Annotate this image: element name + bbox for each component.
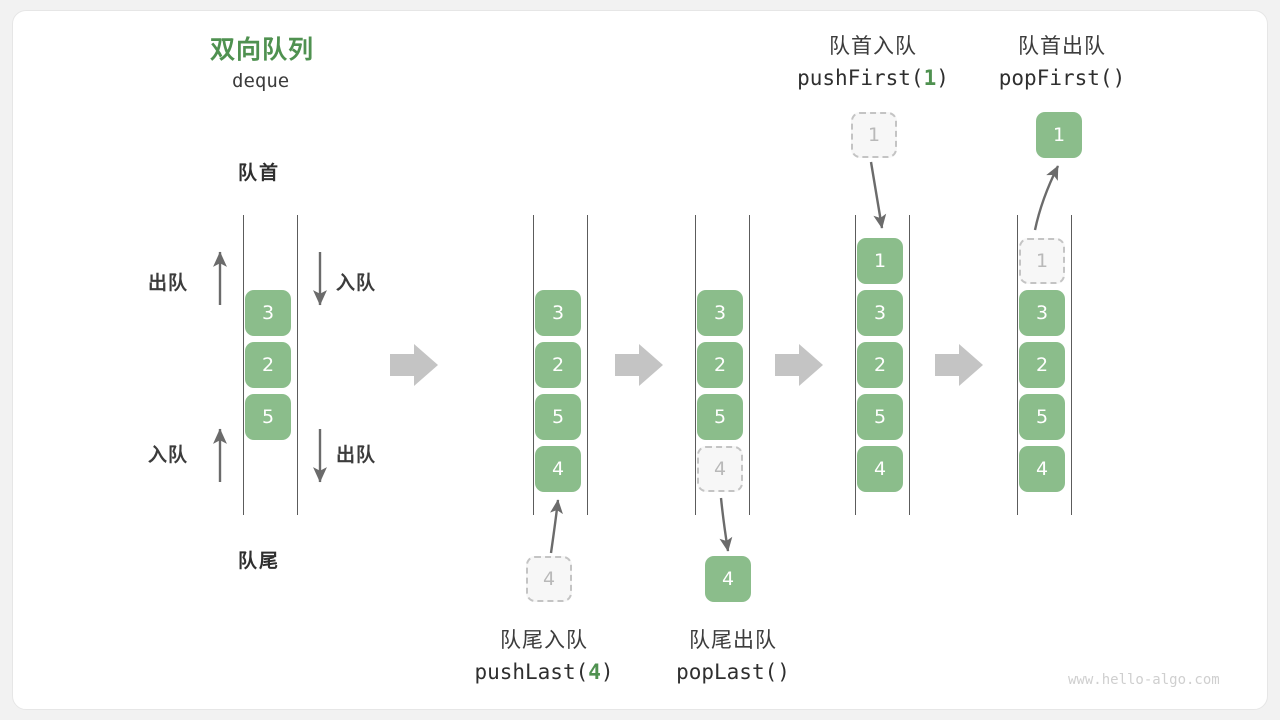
back-label: 队尾 <box>238 546 280 573</box>
push-first-caption: 队首入队 <box>783 30 963 60</box>
push-first-code-value: 1 <box>924 66 937 90</box>
diagram-canvas: 双向队列 deque 队首入队 pushFirst(1) 队首出队 popFir… <box>0 0 1280 720</box>
front-enqueue-label: 入队 <box>336 268 376 295</box>
cell-c3-3: 4 <box>697 446 743 492</box>
front-dequeue-label: 出队 <box>148 268 188 295</box>
pop-last-code-prefix: popLast( <box>676 660 777 684</box>
column-4-rail-left <box>855 215 856 515</box>
pop-last-caption: 队尾出队 <box>643 624 823 654</box>
cell-c5-1: 3 <box>1019 290 1065 336</box>
pop-first-code-prefix: popFirst( <box>999 66 1113 90</box>
push-last-code-value: 4 <box>588 660 601 684</box>
pop-first-operand-box: 1 <box>1036 112 1082 158</box>
cell-c2-3: 4 <box>535 446 581 492</box>
watermark: www.hello-algo.com <box>1068 672 1220 688</box>
column-5-rail-left <box>1017 215 1018 515</box>
front-label: 队首 <box>238 158 280 185</box>
cell-c1-1: 2 <box>245 342 291 388</box>
back-dequeue-label: 出队 <box>336 440 376 467</box>
push-last-code-suffix: ) <box>601 660 614 684</box>
push-first-code-prefix: pushFirst( <box>797 66 923 90</box>
push-last-code-prefix: pushLast( <box>474 660 588 684</box>
cell-c3-1: 2 <box>697 342 743 388</box>
cell-c2-2: 5 <box>535 394 581 440</box>
cell-c1-0: 3 <box>245 290 291 336</box>
page-title: 双向队列 <box>210 30 314 66</box>
cell-c4-2: 2 <box>857 342 903 388</box>
pop-first-code-suffix: ) <box>1113 66 1126 90</box>
pop-last-code-suffix: ) <box>777 660 790 684</box>
push-first-code-suffix: ) <box>936 66 949 90</box>
cell-c3-2: 5 <box>697 394 743 440</box>
cell-c5-2: 2 <box>1019 342 1065 388</box>
pop-first-caption: 队首出队 <box>972 30 1152 60</box>
cell-c4-1: 3 <box>857 290 903 336</box>
cell-c4-3: 5 <box>857 394 903 440</box>
pop-last-code: popLast() <box>643 660 823 684</box>
cell-c5-3: 5 <box>1019 394 1065 440</box>
column-2-rail-left <box>533 215 534 515</box>
pop-first-code: popFirst() <box>972 66 1152 90</box>
column-2-rail-right <box>587 215 588 515</box>
cell-c1-2: 5 <box>245 394 291 440</box>
push-first-code: pushFirst(1) <box>773 66 973 90</box>
cell-c4-4: 4 <box>857 446 903 492</box>
column-5-rail-right <box>1071 215 1072 515</box>
cell-c3-0: 3 <box>697 290 743 336</box>
back-enqueue-label: 入队 <box>148 440 188 467</box>
push-last-code: pushLast(4) <box>444 660 644 684</box>
cell-c5-0: 1 <box>1019 238 1065 284</box>
column-1-rail-right <box>297 215 298 515</box>
push-last-caption: 队尾入队 <box>454 624 634 654</box>
cell-c2-1: 2 <box>535 342 581 388</box>
column-4-rail-right <box>909 215 910 515</box>
push-last-operand-box: 4 <box>526 556 572 602</box>
column-1-rail-left <box>243 215 244 515</box>
pop-last-operand-box: 4 <box>705 556 751 602</box>
column-3-rail-left <box>695 215 696 515</box>
cell-c2-0: 3 <box>535 290 581 336</box>
cell-c5-4: 4 <box>1019 446 1065 492</box>
cell-c4-0: 1 <box>857 238 903 284</box>
page-subtitle: deque <box>232 70 289 92</box>
push-first-operand-box: 1 <box>851 112 897 158</box>
column-3-rail-right <box>749 215 750 515</box>
